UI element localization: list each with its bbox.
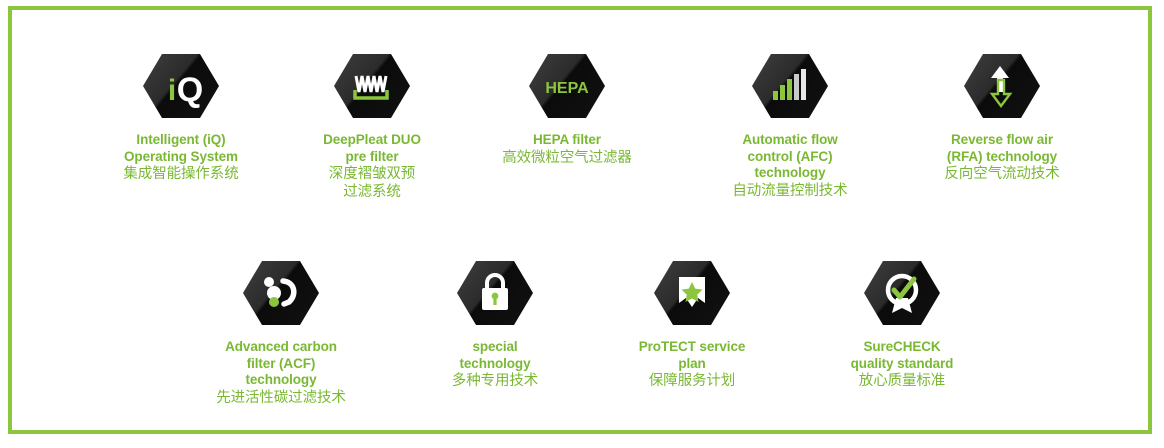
feature-item-hepa-filter[interactable]: HEPA HEPA filter 高效微粒空气过滤器	[462, 48, 672, 167]
feature-zh-line: 过滤系统	[267, 183, 477, 201]
feature-en-line: technology	[685, 165, 895, 182]
feature-en-line: plan	[587, 356, 797, 373]
feature-en-line: special	[390, 339, 600, 356]
feature-label-hepa-filter: HEPA filter 高效微粒空气过滤器	[462, 132, 672, 167]
feature-item-advanced-carbon-filter[interactable]: Advanced carbon filter (ACF) technology …	[176, 255, 386, 407]
feature-label-protect-service-plan: ProTECT service plan 保障服务计划	[587, 339, 797, 390]
check-medal-icon	[864, 255, 940, 331]
feature-en-line: technology	[390, 356, 600, 373]
svg-text:i: i	[168, 74, 176, 107]
feature-en-line: Reverse flow air	[897, 132, 1107, 149]
feature-en-line: HEPA filter	[462, 132, 672, 149]
feature-zh-line: 保障服务计划	[587, 372, 797, 390]
pleated-filter-icon	[334, 48, 410, 124]
feature-zh-line: 先进活性碳过滤技术	[176, 389, 386, 407]
feature-label-automatic-flow-control: Automatic flow control (AFC) technology …	[685, 132, 895, 200]
feature-en-line: SureCHECK	[797, 339, 1007, 356]
up-down-arrows-icon	[964, 48, 1040, 124]
feature-zh-line: 高效微粒空气过滤器	[462, 149, 672, 167]
feature-en-line: Operating System	[76, 149, 286, 166]
signal-bars-icon	[752, 48, 828, 124]
feature-en-line: control (AFC)	[685, 149, 895, 166]
feature-en-line: DeepPleat DUO	[267, 132, 477, 149]
feature-label-intelligent-iq: Intelligent (iQ) Operating System 集成智能操作…	[76, 132, 286, 183]
feature-zh-line: 集成智能操作系统	[76, 165, 286, 183]
carbon-molecule-icon	[243, 255, 319, 331]
feature-en-line: technology	[176, 372, 386, 389]
feature-en-line: (RFA) technology	[897, 149, 1107, 166]
feature-item-automatic-flow-control[interactable]: Automatic flow control (AFC) technology …	[685, 48, 895, 200]
hepa-badge-icon: HEPA	[529, 48, 605, 124]
feature-panel: i Q Intelligent (iQ) Operating System 集成…	[8, 6, 1152, 434]
svg-text:Q: Q	[177, 71, 203, 109]
feature-zh-line: 自动流量控制技术	[685, 182, 895, 200]
feature-zh-line: 反向空气流动技术	[897, 165, 1107, 183]
feature-zh-line: 多种专用技术	[390, 372, 600, 390]
iq-chip-icon: i Q	[143, 48, 219, 124]
feature-item-protect-service-plan[interactable]: ProTECT service plan 保障服务计划	[587, 255, 797, 390]
feature-label-surecheck-quality-standard: SureCHECK quality standard 放心质量标准	[797, 339, 1007, 390]
feature-item-deeppleat-duo[interactable]: DeepPleat DUO pre filter 深度褶皱双预 过滤系统	[267, 48, 477, 201]
feature-label-special-technology: special technology 多种专用技术	[390, 339, 600, 390]
feature-en-line: Automatic flow	[685, 132, 895, 149]
feature-label-advanced-carbon-filter: Advanced carbon filter (ACF) technology …	[176, 339, 386, 407]
feature-en-line: pre filter	[267, 149, 477, 166]
feature-item-intelligent-iq[interactable]: i Q Intelligent (iQ) Operating System 集成…	[76, 48, 286, 183]
feature-zh-line: 放心质量标准	[797, 372, 1007, 390]
feature-en-line: quality standard	[797, 356, 1007, 373]
feature-en-line: filter (ACF)	[176, 356, 386, 373]
feature-en-line: ProTECT service	[587, 339, 797, 356]
feature-item-special-technology[interactable]: special technology 多种专用技术	[390, 255, 600, 390]
feature-label-reverse-flow-air: Reverse flow air (RFA) technology 反向空气流动…	[897, 132, 1107, 183]
feature-en-line: Advanced carbon	[176, 339, 386, 356]
feature-zh-line: 深度褶皱双预	[267, 165, 477, 183]
hepa-icon-text: HEPA	[545, 80, 589, 97]
feature-item-reverse-flow-air[interactable]: Reverse flow air (RFA) technology 反向空气流动…	[897, 48, 1107, 183]
feature-en-line: Intelligent (iQ)	[76, 132, 286, 149]
feature-label-deeppleat-duo: DeepPleat DUO pre filter 深度褶皱双预 过滤系统	[267, 132, 477, 201]
feature-grid: i Q Intelligent (iQ) Operating System 集成…	[12, 10, 1148, 430]
star-shield-icon	[654, 255, 730, 331]
padlock-icon	[457, 255, 533, 331]
feature-item-surecheck-quality-standard[interactable]: SureCHECK quality standard 放心质量标准	[797, 255, 1007, 390]
